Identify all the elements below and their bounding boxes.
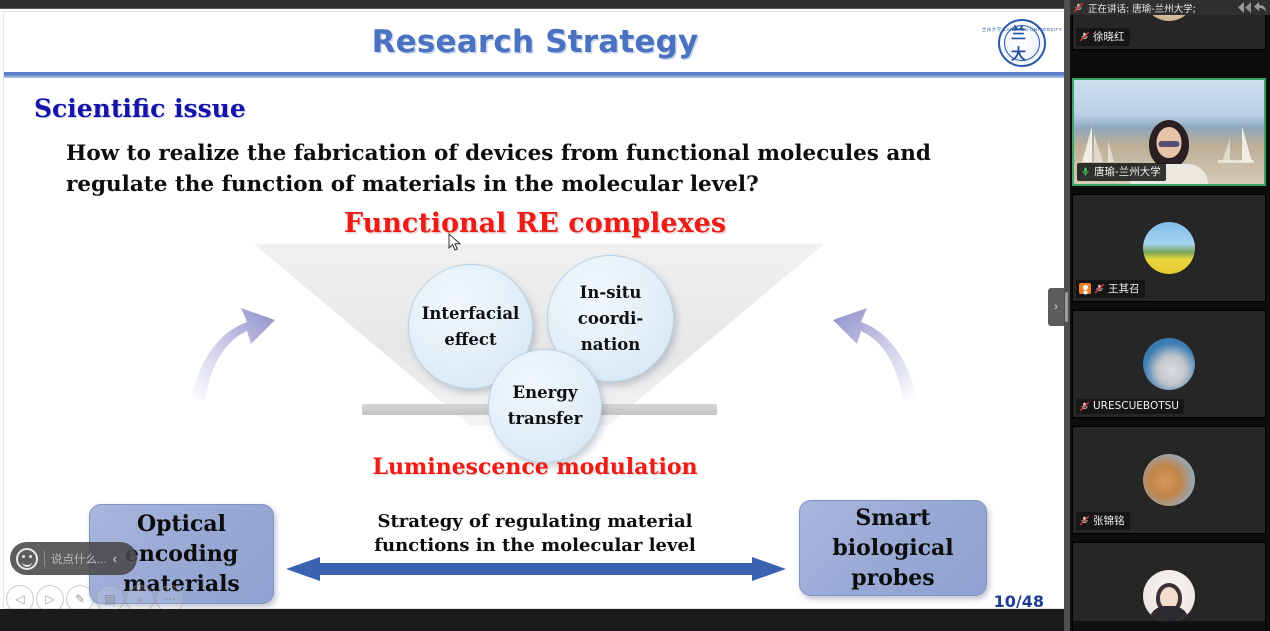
triangle-left-icon: ◁ xyxy=(15,592,24,606)
mic-off-icon xyxy=(1094,283,1105,294)
red-heading: Functional RE complexes xyxy=(4,208,1065,239)
host-icon xyxy=(1079,283,1091,294)
participant-tile-active[interactable]: 唐瑜-兰州大学 xyxy=(1072,78,1266,186)
participant-name-badge: 唐瑜-兰州大学 xyxy=(1077,163,1166,181)
mic-off-icon xyxy=(1073,2,1084,13)
curved-arrow-right-icon xyxy=(829,300,919,405)
chat-input-placeholder[interactable]: 说点什么... xyxy=(51,551,107,567)
divider xyxy=(44,551,45,567)
participant-tile[interactable]: 王其召 xyxy=(1072,194,1266,302)
ellipsis-icon: ⋯ xyxy=(164,592,176,606)
chat-input-bar[interactable]: 说点什么... ‹ xyxy=(10,542,137,575)
meeting-screen: Research Strategy 兰州大学 LANZHOU UNIVERSIT… xyxy=(0,0,1270,631)
stage-bottom-strip xyxy=(0,609,1070,631)
slide-control-bar: ◁ ▷ ✎ ▤ ⌕ ⋯ xyxy=(6,584,186,609)
box-smart-biological-probes: Smart biological probes xyxy=(799,500,987,596)
sailboat-icon xyxy=(1212,122,1258,166)
chevron-down-icon[interactable]: ⌄ xyxy=(1164,627,1174,631)
participants-sidebar: 正在讲话: 唐瑜-兰州大学; 徐晓红 xyxy=(1070,0,1270,631)
page-title: Research Strategy xyxy=(4,24,1065,60)
question-text: How to realize the fabrication of device… xyxy=(66,138,1026,200)
triangle-right-icon: ▷ xyxy=(45,592,54,606)
mic-off-icon xyxy=(1079,515,1090,526)
participant-tile[interactable]: 张锦铭 xyxy=(1072,426,1266,534)
avatar xyxy=(1143,338,1195,390)
double-headed-arrow-icon xyxy=(286,557,786,581)
participant-name: URESCUEBOTSU xyxy=(1093,400,1179,412)
sidebar-header-icons xyxy=(1238,2,1267,13)
participant-tile[interactable]: URESCUEBOTSU xyxy=(1072,310,1266,418)
participant-name-badge: 徐晓红 xyxy=(1076,28,1130,46)
strategy-caption: Strategy of regulating material function… xyxy=(335,510,735,558)
participant-name: 王其召 xyxy=(1108,281,1140,296)
participant-name: 张锦铭 xyxy=(1093,513,1125,528)
page-indicator: 10/48 xyxy=(994,592,1044,609)
curved-arrow-left-icon xyxy=(189,300,279,405)
section-heading: Scientific issue xyxy=(34,94,246,123)
sailboat-icon xyxy=(1078,120,1122,166)
sidebar-header: 正在讲话: 唐瑜-兰州大学; xyxy=(1070,0,1270,15)
chevron-collapse-icon[interactable] xyxy=(1238,2,1252,13)
title-divider xyxy=(4,72,1065,78)
mic-off-icon xyxy=(1079,31,1090,42)
speaking-status-text: 正在讲话: 唐瑜-兰州大学; xyxy=(1088,1,1234,15)
participant-name: 徐晓红 xyxy=(1093,29,1125,44)
panel-drag-handle[interactable] xyxy=(1065,292,1068,322)
bubble-energy-transfer: Energy transfer xyxy=(488,349,602,463)
zoom-button[interactable]: ⌕ xyxy=(126,585,154,609)
participant-name-badge: 张锦铭 xyxy=(1076,512,1130,530)
participant-name-badge: 王其召 xyxy=(1076,280,1145,298)
shared-screen-stage: Research Strategy 兰州大学 LANZHOU UNIVERSIT… xyxy=(0,9,1070,609)
participant-name-badge: URESCUEBOTSU xyxy=(1076,399,1184,414)
layout-button[interactable]: ▤ xyxy=(96,585,124,609)
smiley-icon[interactable] xyxy=(16,548,38,570)
presentation-slide: Research Strategy 兰州大学 LANZHOU UNIVERSIT… xyxy=(3,11,1065,609)
lower-red-heading: Luminescence modulation xyxy=(4,452,1065,482)
mouse-cursor xyxy=(448,233,462,253)
chevron-right-icon: › xyxy=(1054,301,1058,313)
back-arrow-icon[interactable] xyxy=(1254,2,1267,13)
annotate-button[interactable]: ✎ xyxy=(66,585,94,609)
mic-off-icon xyxy=(1079,401,1090,412)
mic-on-icon xyxy=(1080,166,1091,177)
panel-collapse-toggle[interactable]: › xyxy=(1048,288,1064,326)
avatar xyxy=(1143,454,1195,506)
university-seal-icon: 兰州大学 LANZHOU UNIVERSITY 兰大 xyxy=(998,19,1046,67)
magnifier-icon: ⌕ xyxy=(137,592,144,607)
chevron-left-icon[interactable]: ‹ xyxy=(113,551,117,566)
more-options-button[interactable]: ⋯ xyxy=(156,585,184,609)
layout-icon: ▤ xyxy=(104,592,115,606)
participant-tile[interactable]: ⌄ xyxy=(1072,542,1266,631)
next-slide-button[interactable]: ▷ xyxy=(36,585,64,609)
avatar xyxy=(1143,222,1195,274)
pen-icon: ✎ xyxy=(75,592,85,606)
avatar xyxy=(1143,570,1195,622)
participant-name: 唐瑜-兰州大学 xyxy=(1094,164,1161,179)
top-strip xyxy=(0,0,1070,9)
previous-slide-button[interactable]: ◁ xyxy=(6,585,34,609)
